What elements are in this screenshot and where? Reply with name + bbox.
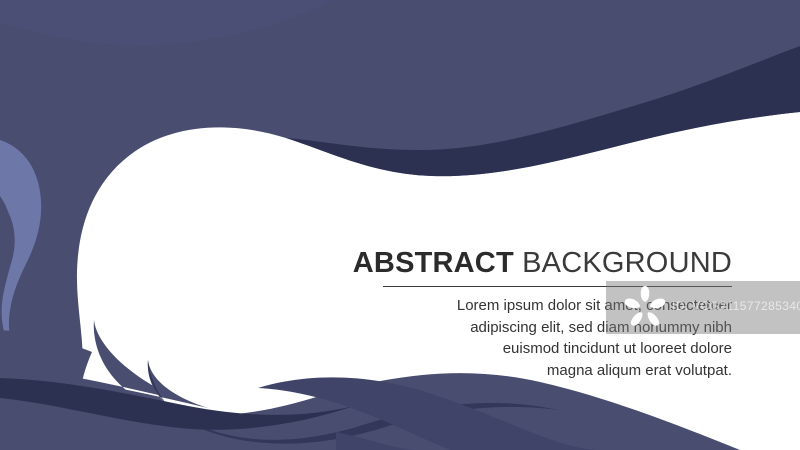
title-light-word: BACKGROUND (522, 247, 732, 279)
page-title: ABSTRACT BACKGROUND (300, 246, 732, 280)
title-divider (383, 286, 732, 287)
body-line-1: Lorem ipsum dolor sit amet, consectetuer (300, 295, 732, 317)
body-line-2: adipiscing elit, sed diam nonummy nibh (300, 317, 732, 339)
title-space (514, 247, 522, 279)
title-bold-word: ABSTRACT (353, 247, 514, 279)
text-block: ABSTRACT BACKGROUND Lorem ipsum dolor si… (300, 246, 732, 381)
abstract-background-canvas: ABSTRACT BACKGROUND Lorem ipsum dolor si… (0, 0, 800, 450)
body-copy: Lorem ipsum dolor sit amet, consectetuer… (300, 295, 732, 381)
body-line-3: euismod tincidunt ut looreet dolore (300, 338, 732, 360)
body-line-4: magna aliqum erat volutpat. (300, 360, 732, 382)
background-shapes (0, 0, 800, 450)
